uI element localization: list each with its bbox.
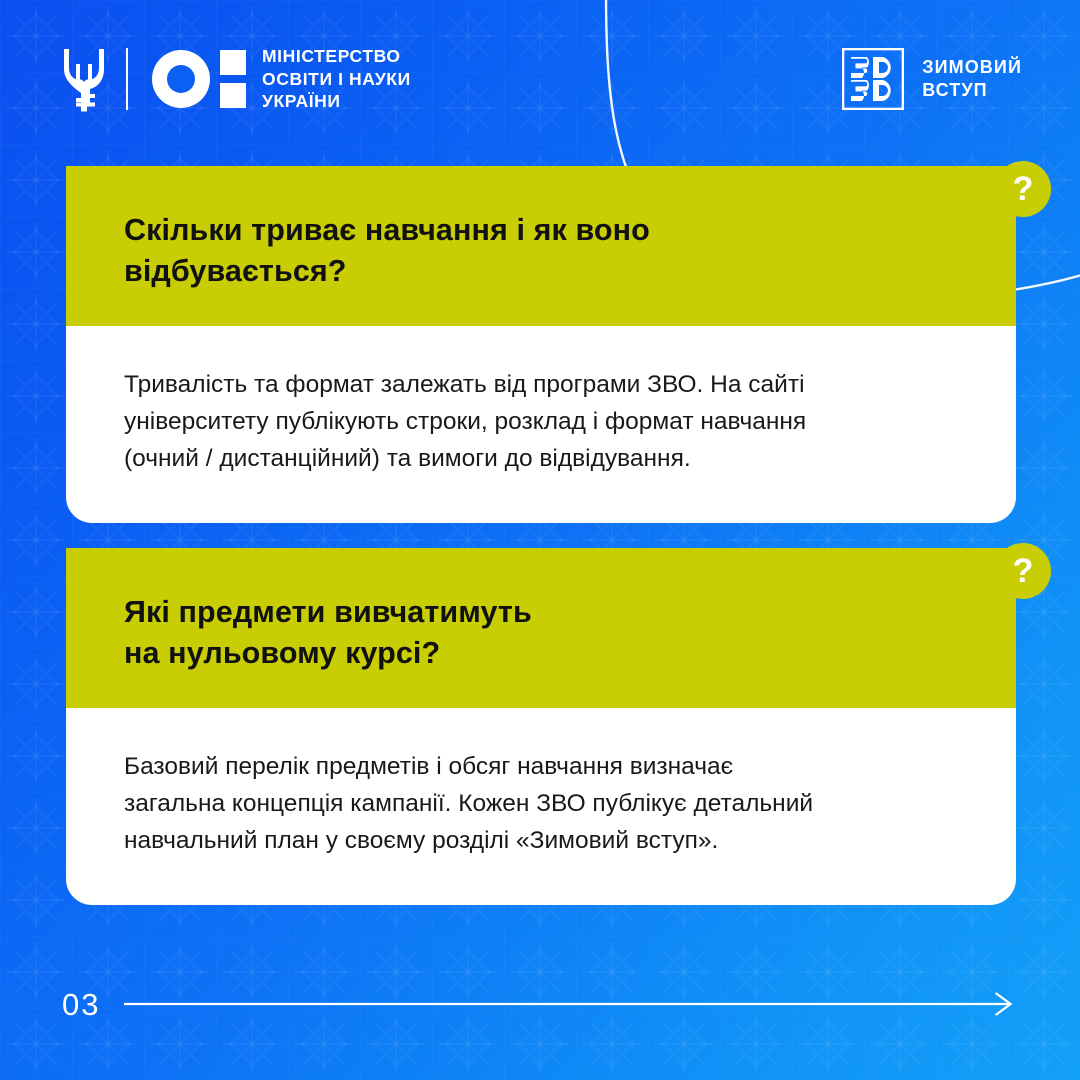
faq-card-header: Скільки триває навчання і як воно відбув… — [66, 166, 1016, 326]
faq-card: ? Які предмети вивчатимуть на нульовому … — [66, 548, 1016, 905]
logo-divider — [126, 48, 128, 110]
faq-answer-text: Тривалість та формат залежать від програ… — [124, 366, 956, 478]
zv-monogram-icon — [842, 48, 904, 110]
faq-question-title: Які предмети вивчатимуть на нульовому ку… — [124, 592, 956, 674]
question-badge: ? — [995, 543, 1051, 599]
faq-question-title: Скільки триває навчання і як воно відбув… — [124, 210, 956, 292]
mon-circle-square-icon — [150, 48, 246, 110]
winter-admission-logo: ЗИМОВИЙ ВСТУП — [842, 48, 1022, 110]
page-footer: 03 — [62, 984, 1018, 1024]
decorative-curve — [0, 0, 1080, 1080]
faq-card-body: Тривалість та формат залежать від програ… — [66, 326, 1016, 524]
ukraine-trident-icon — [62, 46, 106, 112]
slide-canvas: МІНІСТЕРСТВО ОСВІТИ І НАУКИ УКРАЇНИ ЗИМО… — [0, 0, 1080, 1080]
faq-answer-text: Базовий перелік предметів і обсяг навчан… — [124, 748, 956, 860]
page-header: МІНІСТЕРСТВО ОСВІТИ І НАУКИ УКРАЇНИ ЗИМО… — [0, 0, 1080, 150]
question-badge: ? — [995, 161, 1051, 217]
faq-card: ? Скільки триває навчання і як воно відб… — [66, 166, 1016, 523]
arrow-right-icon — [124, 991, 1018, 1017]
faq-card-body: Базовий перелік предметів і обсяг навчан… — [66, 708, 1016, 906]
ministry-logo-text: МІНІСТЕРСТВО ОСВІТИ І НАУКИ УКРАЇНИ — [262, 45, 411, 113]
page-number: 03 — [62, 989, 100, 1020]
faq-card-header-content: Скільки триває навчання і як воно відбув… — [124, 210, 956, 292]
ministry-of-education-logo: МІНІСТЕРСТВО ОСВІТИ І НАУКИ УКРАЇНИ — [62, 45, 411, 113]
background-snowflake-pattern — [0, 0, 1080, 1080]
faq-card-header: Які предмети вивчатимуть на нульовому ку… — [66, 548, 1016, 708]
faq-card-header-content: Які предмети вивчатимуть на нульовому ку… — [124, 592, 956, 674]
winter-admission-logo-text: ЗИМОВИЙ ВСТУП — [922, 56, 1022, 103]
